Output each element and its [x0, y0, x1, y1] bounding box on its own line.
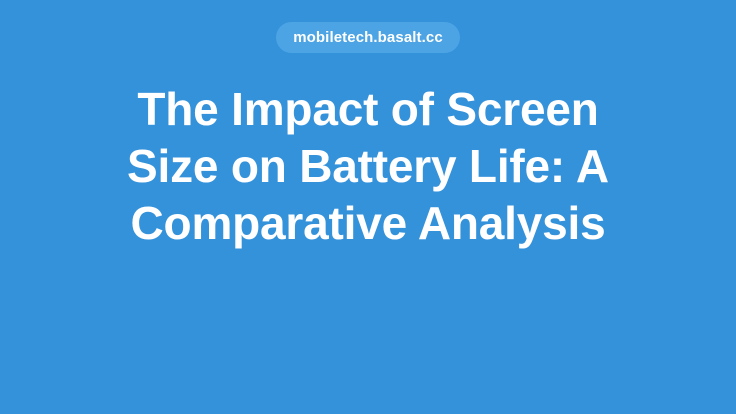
domain-badge: mobiletech.basalt.cc [276, 22, 460, 53]
page-title: The Impact of Screen Size on Battery Lif… [88, 81, 648, 252]
share-card: mobiletech.basalt.cc The Impact of Scree… [0, 0, 736, 414]
title-block: The Impact of Screen Size on Battery Lif… [88, 81, 648, 252]
